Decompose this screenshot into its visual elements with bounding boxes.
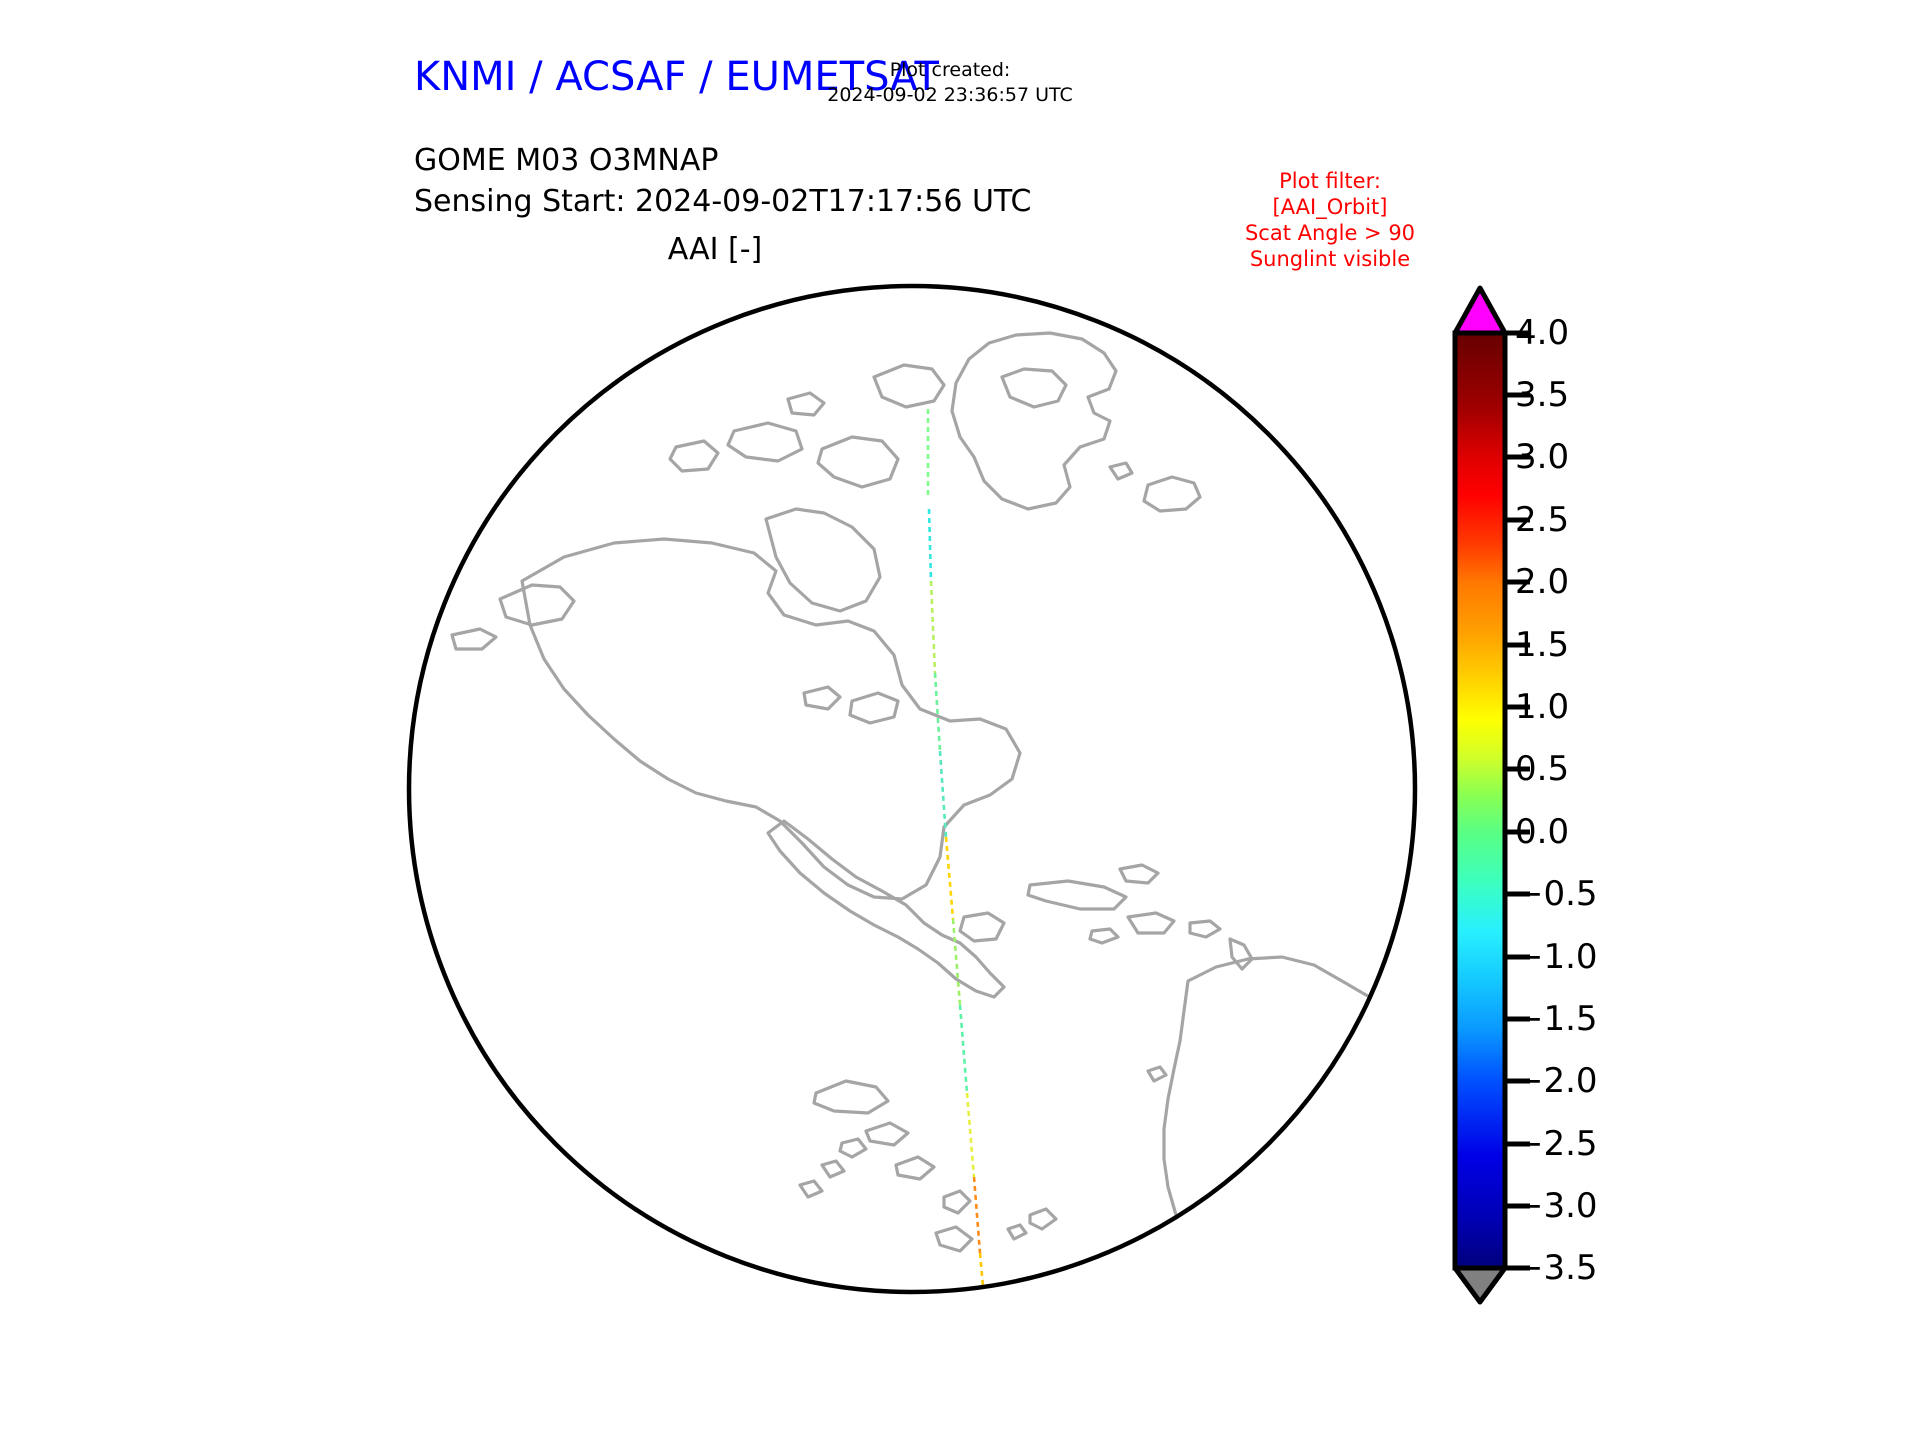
colorbar-under-arrow xyxy=(1455,1268,1505,1302)
colorbar-over-arrow xyxy=(1455,288,1505,333)
plot-filter-scatangle: Scat Angle > 90 xyxy=(1180,220,1480,246)
colorbar-tick-label-0-5: 0.5 xyxy=(1515,749,1569,789)
plot-filter-block: Plot filter: [AAI_Orbit] Scat Angle > 90… xyxy=(1180,168,1480,272)
plot-filter-sunglint: Sunglint visible xyxy=(1180,246,1480,272)
colorbar-tick-label-2-5: 2.5 xyxy=(1515,500,1569,540)
plot-canvas: KNMI / ACSAF / EUMETSAT Plot created: 20… xyxy=(0,0,1920,1440)
colorbar-tick-label-neg-1-0: −1.0 xyxy=(1515,937,1598,977)
plot-filter-product: [AAI_Orbit] xyxy=(1180,194,1480,220)
colorbar-tick-label-3-0: 3.0 xyxy=(1515,437,1569,477)
orthographic-globe xyxy=(404,281,1420,1297)
coastline-far-north-eurasia xyxy=(1334,387,1410,427)
coastline-eurasia-limb-1 xyxy=(1376,443,1420,471)
colorbar-tick-label-0-0: 0.0 xyxy=(1515,812,1569,852)
plot-created-label: Plot created: xyxy=(740,58,1160,83)
plot-filter-label: Plot filter: xyxy=(1180,168,1480,194)
colorbar-tick-label-neg-2-5: −2.5 xyxy=(1515,1124,1598,1164)
coastline-eurasia-limb-2 xyxy=(1304,423,1352,451)
instrument-product-line: GOME M03 O3MNAP xyxy=(414,140,1031,181)
globe-svg xyxy=(404,281,1420,1297)
colorbar-tick-label-2-0: 2.0 xyxy=(1515,562,1569,602)
colorbar-tick-label-neg-0-5: −0.5 xyxy=(1515,874,1598,914)
colorbar: 4.0 3.5 3.0 2.5 2.0 1.5 1.0 0.5 0.0 −0.5… xyxy=(1425,280,1725,1310)
colorbar-tick-label-4-0: 4.0 xyxy=(1515,313,1569,353)
coastline-svalbard xyxy=(1260,343,1318,373)
colorbar-gradient-body xyxy=(1455,333,1505,1268)
plot-created-timestamp: 2024-09-02 23:36:57 UTC xyxy=(740,83,1160,108)
dataset-title-block: GOME M03 O3MNAP Sensing Start: 2024-09-0… xyxy=(414,140,1031,222)
colorbar-tick-label-1-0: 1.0 xyxy=(1515,687,1569,727)
colorbar-tick-label-neg-2-0: −2.0 xyxy=(1515,1061,1598,1101)
colorbar-tick-label-3-5: 3.5 xyxy=(1515,375,1569,415)
globe-disc-fill xyxy=(409,286,1415,1292)
colorbar-tick-label-1-5: 1.5 xyxy=(1515,625,1569,665)
colorbar-tick-label-neg-3-5: −3.5 xyxy=(1515,1248,1598,1288)
colorbar-tick-label-neg-1-5: −1.5 xyxy=(1515,999,1598,1039)
plot-created-block: Plot created: 2024-09-02 23:36:57 UTC xyxy=(740,58,1160,108)
coastline-scandinavia-edge xyxy=(1408,365,1420,395)
sensing-start-line: Sensing Start: 2024-09-02T17:17:56 UTC xyxy=(414,181,1031,222)
colorbar-tick-label-neg-3-0: −3.0 xyxy=(1515,1186,1598,1226)
